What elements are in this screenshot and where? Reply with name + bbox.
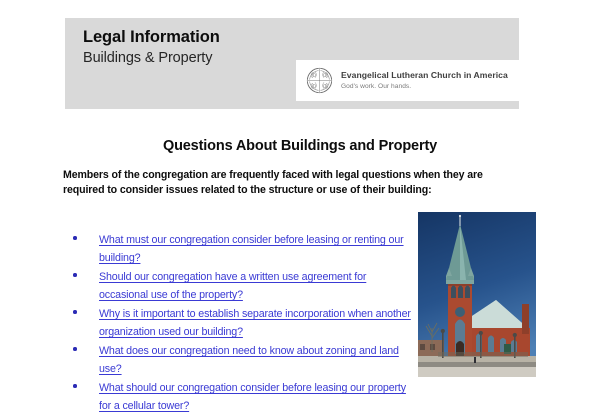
question-link-5[interactable]: What should our congregation consider be… xyxy=(99,382,406,412)
bullet-icon xyxy=(73,347,77,351)
bullet-icon xyxy=(73,310,77,314)
elca-cross-circle-emblem xyxy=(306,67,333,94)
organization-name: Evangelical Lutheran Church in America xyxy=(341,71,508,81)
list-item: What should our congregation consider be… xyxy=(66,378,411,414)
question-link-1[interactable]: What must our congregation consider befo… xyxy=(99,234,404,264)
bullet-icon xyxy=(73,273,77,277)
header-band: Legal Information Buildings & Property xyxy=(65,18,519,109)
list-item: What does our congregation need to know … xyxy=(66,341,411,377)
church-building-photo xyxy=(418,212,536,377)
bullet-icon xyxy=(73,384,77,388)
question-link-3[interactable]: Why is it important to establish separat… xyxy=(99,308,411,338)
elca-logo-lockup: Evangelical Lutheran Church in America G… xyxy=(296,60,519,101)
page-subtitle: Buildings & Property xyxy=(83,50,212,66)
question-link-list: What must our congregation consider befo… xyxy=(66,230,411,415)
organization-tagline: God's work. Our hands. xyxy=(341,83,508,90)
list-item: Why is it important to establish separat… xyxy=(66,304,411,340)
page-title: Legal Information xyxy=(83,28,220,47)
bullet-icon xyxy=(73,236,77,240)
list-item: Should our congregation have a written u… xyxy=(66,267,411,303)
list-item: What must our congregation consider befo… xyxy=(66,230,411,266)
elca-logo-text: Evangelical Lutheran Church in America G… xyxy=(341,71,508,90)
question-link-4[interactable]: What does our congregation need to know … xyxy=(99,345,399,375)
intro-paragraph: Members of the congregation are frequent… xyxy=(63,168,483,198)
section-heading: Questions About Buildings and Property xyxy=(0,138,600,154)
question-link-2[interactable]: Should our congregation have a written u… xyxy=(99,271,366,301)
